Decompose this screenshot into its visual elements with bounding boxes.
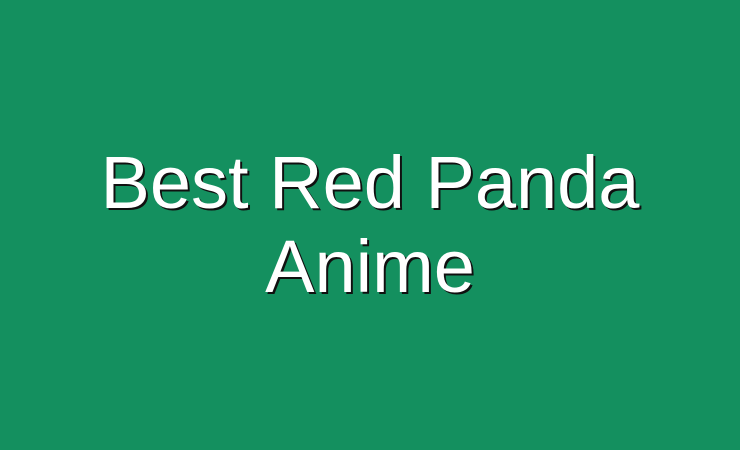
page-title-line-2: Anime <box>24 225 716 309</box>
banner-card: Best Red Panda Anime <box>0 0 740 450</box>
page-title: Best Red Panda Anime <box>0 141 740 309</box>
page-title-line-1: Best Red Panda <box>24 141 716 225</box>
